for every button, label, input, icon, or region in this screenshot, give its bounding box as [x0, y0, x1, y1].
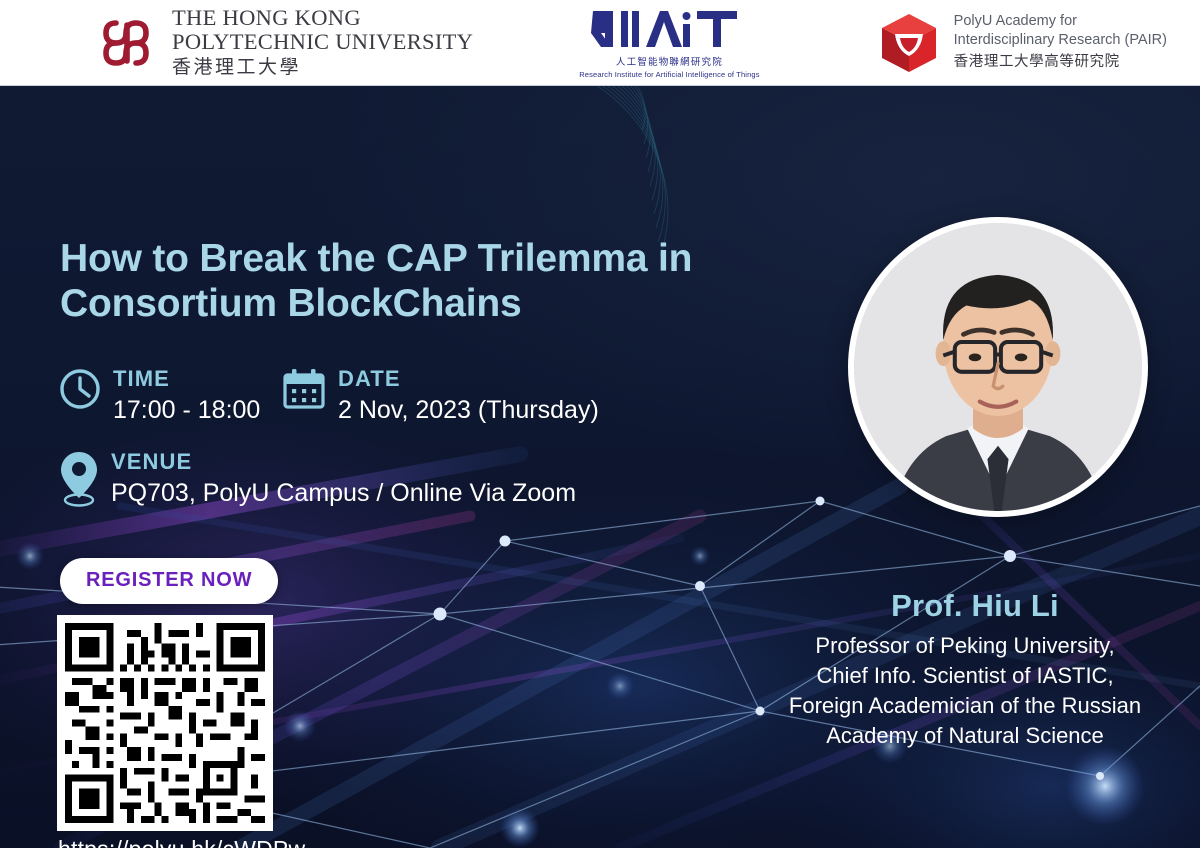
- pair-line-2: Interdisciplinary Research (PAIR): [954, 31, 1167, 50]
- event-title: How to Break the CAP Trilemma in Consort…: [60, 236, 700, 326]
- venue-info-row: VENUE PQ703, PolyU Campus / Online Via Z…: [58, 450, 576, 515]
- pair-cube-logo-icon: [878, 12, 940, 74]
- pair-chinese-name: 香港理工大學高等研究院: [954, 52, 1167, 73]
- speaker-credentials: Professor of Peking University, Chief In…: [735, 631, 1195, 751]
- speaker-credential-line: Chief Info. Scientist of IASTIC,: [735, 661, 1195, 691]
- clock-icon: [58, 367, 102, 416]
- speaker-name: Prof. Hiu Li: [760, 588, 1190, 624]
- event-poster: THE HONG KONG POLYTECHNIC UNIVERSITY 香港理…: [0, 0, 1200, 848]
- pair-line-1: PolyU Academy for: [954, 12, 1167, 31]
- venue-value: PQ703, PolyU Campus / Online Via Zoom: [111, 478, 576, 508]
- poster-body: How to Break the CAP Trilemma in Consort…: [0, 86, 1200, 848]
- riaot-logo-group: 人工智能物聯網研究院 Research Institute for Artifi…: [579, 0, 759, 85]
- riaot-logo-icon: [591, 7, 747, 51]
- speaker-credential-line: Professor of Peking University,: [735, 631, 1195, 661]
- polyu-knot-logo-icon: [96, 11, 160, 75]
- riaot-chinese-name: 人工智能物聯網研究院: [616, 54, 723, 68]
- polyu-chinese-name: 香港理工大學: [172, 56, 473, 80]
- date-info-row: DATE 2 Nov, 2023 (Thursday): [281, 367, 599, 425]
- pair-logo-group: PolyU Academy for Interdisciplinary Rese…: [878, 0, 1167, 85]
- polyu-line-1: THE HONG KONG: [172, 6, 473, 31]
- date-label: DATE: [338, 367, 599, 392]
- speaker-credential-line: Academy of Natural Science: [735, 721, 1195, 751]
- registration-url[interactable]: https://polyu.hk/cWDPw: [58, 836, 305, 848]
- date-value: 2 Nov, 2023 (Thursday): [338, 395, 599, 425]
- location-pin-icon: [58, 450, 100, 515]
- register-now-button[interactable]: REGISTER NOW: [60, 558, 278, 604]
- time-info-row: TIME 17:00 - 18:00: [58, 367, 260, 425]
- calendar-icon: [281, 367, 327, 416]
- polyu-logo-text: THE HONG KONG POLYTECHNIC UNIVERSITY 香港理…: [172, 6, 473, 80]
- venue-label: VENUE: [111, 450, 576, 475]
- time-value: 17:00 - 18:00: [113, 395, 260, 425]
- qr-code[interactable]: [57, 615, 273, 831]
- speaker-portrait: [848, 217, 1148, 517]
- polyu-line-2: POLYTECHNIC UNIVERSITY: [172, 30, 473, 55]
- venue-text: VENUE PQ703, PolyU Campus / Online Via Z…: [111, 450, 576, 508]
- polyu-logo-group: THE HONG KONG POLYTECHNIC UNIVERSITY 香港理…: [96, 0, 473, 85]
- pair-logo-text: PolyU Academy for Interdisciplinary Rese…: [954, 12, 1167, 73]
- time-text: TIME 17:00 - 18:00: [113, 367, 260, 425]
- riaot-english-name: Research Institute for Artificial Intell…: [579, 70, 759, 79]
- logo-header-band: THE HONG KONG POLYTECHNIC UNIVERSITY 香港理…: [0, 0, 1200, 86]
- date-text: DATE 2 Nov, 2023 (Thursday): [338, 367, 599, 425]
- time-label: TIME: [113, 367, 260, 392]
- speaker-credential-line: Foreign Academician of the Russian: [735, 691, 1195, 721]
